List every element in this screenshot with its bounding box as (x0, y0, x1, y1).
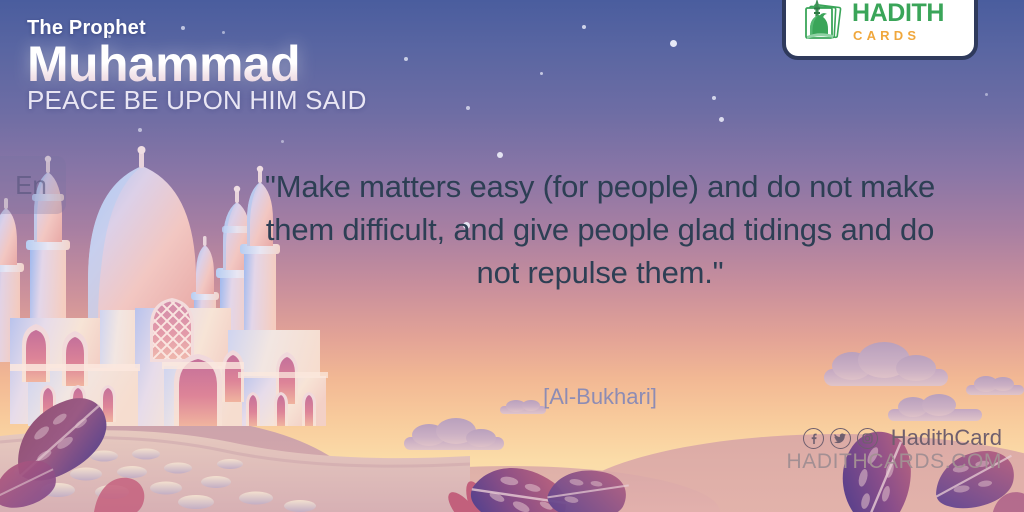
header-block: The Prophet Muhammad PEACE BE UPON HIM S… (27, 18, 447, 114)
footer-brand-name: HadithCard (891, 427, 1002, 449)
foliage-bottom-center (438, 426, 678, 512)
header-eyebrow: The Prophet (27, 18, 447, 38)
facebook-icon[interactable] (803, 428, 824, 449)
language-badge-label: En (1, 170, 47, 201)
social-links: HadithCard (803, 427, 1002, 449)
language-badge[interactable]: En (0, 156, 66, 214)
logo-secondary-text: CARDS (852, 29, 944, 42)
logo-primary-text: HADITH (852, 1, 944, 26)
footer-website-url: HADITHCARDS.COM (786, 450, 1002, 474)
twitter-icon[interactable] (830, 428, 851, 449)
logo-wordmark: HADITH CARDS (852, 1, 944, 42)
hadith-quote-text: "Make matters easy (for people) and do n… (255, 166, 945, 294)
mosque-dome-cards-icon (800, 0, 846, 44)
instagram-icon[interactable] (857, 428, 878, 449)
foliage-bottom-left (0, 408, 160, 512)
brand-logo[interactable]: HADITH CARDS (782, 0, 978, 60)
hadith-source: [Al-Bukhari] (255, 384, 945, 410)
page-title: Muhammad (27, 39, 447, 90)
hadith-card: The Prophet Muhammad PEACE BE UPON HIM S… (0, 0, 1024, 512)
footer-block: HadithCard HADITHCARDS.COM (786, 427, 1002, 474)
